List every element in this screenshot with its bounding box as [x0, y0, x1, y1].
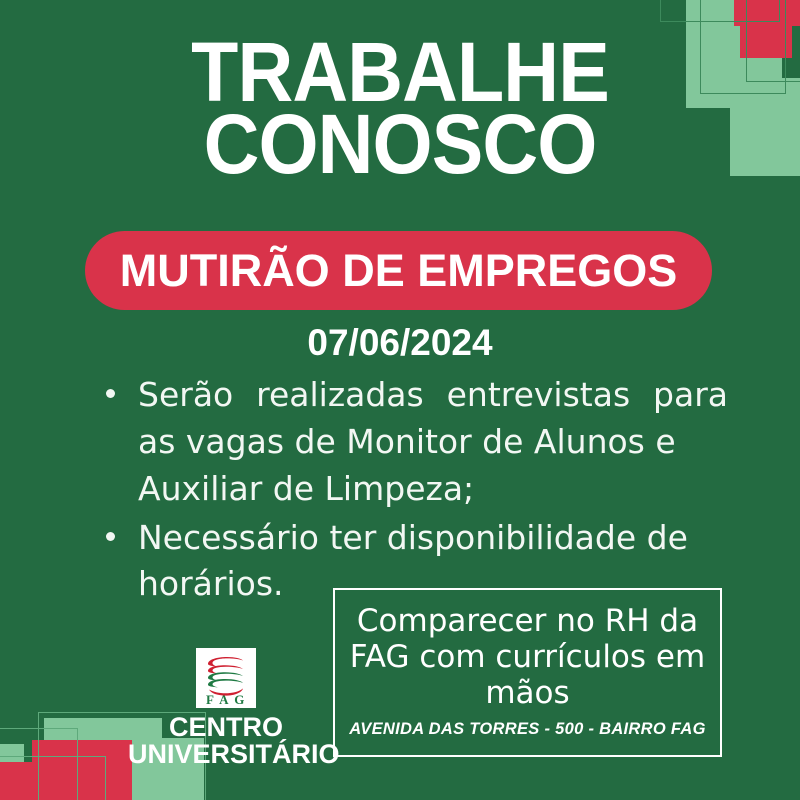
event-banner: MUTIRÃO DE EMPREGOS	[85, 231, 712, 310]
fag-logo-name-line-2: UNIVERSITÁRIO	[128, 741, 324, 768]
bullet-dot-icon	[106, 532, 115, 541]
list-item-text: Serão realizadas entrevistas para as vag…	[138, 372, 728, 466]
fag-logo-name-line-1: CENTRO	[128, 714, 324, 741]
fag-logo-icon: F A G	[196, 648, 256, 708]
details-list: Serão realizadas entrevistas para as vag…	[98, 372, 728, 610]
headline-line-2: CONOSCO	[32, 108, 768, 180]
fag-logo-name: CENTRO UNIVERSITÁRIO	[128, 714, 324, 768]
event-banner-label: MUTIRÃO DE EMPREGOS	[120, 245, 678, 297]
decorative-square-outline	[0, 756, 106, 800]
fag-logo: F A G CENTRO UNIVERSITÁRIO	[128, 648, 324, 768]
list-item-text-tail: Auxiliar de Limpeza;	[138, 466, 728, 513]
decorative-square-outline	[660, 0, 780, 22]
callout-address: AVENIDA DAS TORRES - 500 - BAIRRO FAG	[349, 720, 705, 739]
poster-canvas: TRABALHE CONOSCO MUTIRÃO DE EMPREGOS 07/…	[0, 0, 800, 800]
list-item: Serão realizadas entrevistas para as vag…	[98, 372, 728, 513]
callout-box: Comparecer no RH da FAG com currículos e…	[333, 588, 722, 757]
bullet-dot-icon	[106, 389, 115, 398]
callout-line-1: Comparecer no RH da	[357, 603, 698, 639]
svg-text:F A G: F A G	[206, 692, 246, 707]
callout-message: Comparecer no RH da FAG com currículos e…	[350, 604, 705, 712]
callout-line-3: mãos	[485, 675, 569, 711]
event-date: 07/06/2024	[0, 322, 800, 364]
page-title: TRABALHE CONOSCO	[0, 36, 800, 180]
list-item-text: Necessário ter disponibilidade de	[138, 515, 728, 562]
callout-line-2: FAG com currículos em	[350, 639, 705, 675]
